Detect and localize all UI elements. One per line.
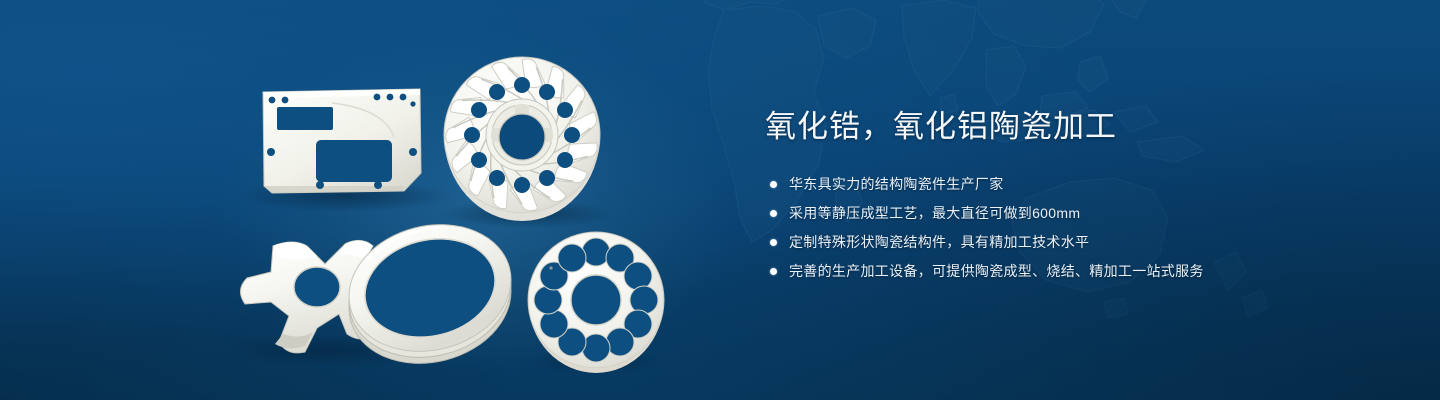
list-item: 定制特殊形状陶瓷结构件，具有精加工技术水平 [770,232,1385,252]
list-item: 采用等静压成型工艺，最大直径可做到600mm [770,203,1385,223]
list-item: 华东具实力的结构陶瓷件生产厂家 [770,174,1385,194]
banner-copy: 氧化锆，氧化铝陶瓷加工 华东具实力的结构陶瓷件生产厂家 采用等静压成型工艺，最大… [765,106,1385,290]
feature-list: 华东具实力的结构陶瓷件生产厂家 采用等静压成型工艺，最大直径可做到600mm 定… [770,174,1385,281]
bullet-dot-icon [770,210,777,217]
feature-text: 完善的生产加工设备，可提供陶瓷成型、烧结、精加工一站式服务 [789,261,1204,281]
feature-text: 华东具实力的结构陶瓷件生产厂家 [789,174,1004,194]
ceramic-machined-plate [263,89,421,193]
banner-headline: 氧化锆，氧化铝陶瓷加工 [765,106,1385,148]
feature-text: 采用等静压成型工艺，最大直径可做到600mm [789,203,1080,223]
product-photo-group [0,0,720,400]
ceramic-processing-banner: 氧化锆，氧化铝陶瓷加工 华东具实力的结构陶瓷件生产厂家 采用等静压成型工艺，最大… [0,0,1440,400]
ceramic-perforated-disc [528,232,664,373]
ceramic-impeller [444,56,602,221]
bullet-dot-icon [770,181,777,188]
bullet-dot-icon [770,268,777,275]
list-item: 完善的生产加工设备，可提供陶瓷成型、烧结、精加工一站式服务 [770,261,1385,281]
bullet-dot-icon [770,239,777,246]
feature-text: 定制特殊形状陶瓷结构件，具有精加工技术水平 [789,232,1089,252]
